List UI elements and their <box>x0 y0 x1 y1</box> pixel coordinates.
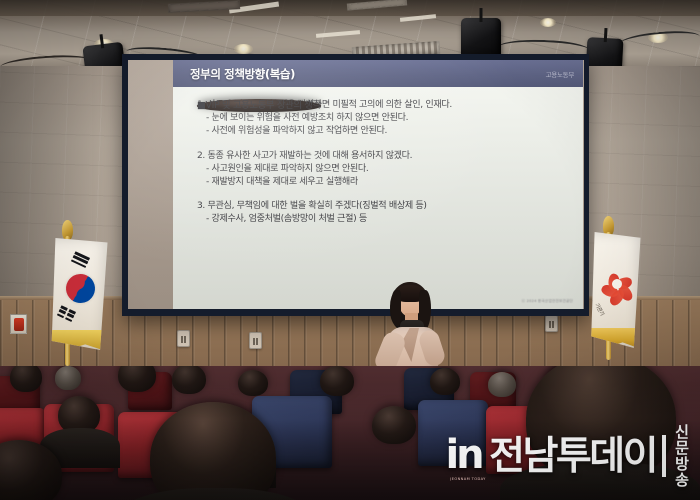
institution-flag-text: 기관기 <box>593 302 605 317</box>
projection-screen: 정부의 정책방향(복습) 고용노동부 ■VIP 및 고용노동부 장관의 생각 1… <box>122 54 589 316</box>
watermark-subtitle-line-1: 신문 <box>675 424 696 456</box>
slide-header: 정부의 정책방향(복습) 고용노동부 <box>173 60 583 87</box>
slide-group-3: 3. 무관심, 무책임에 대한 벌을 확실히 주겠다(징벌적 배상제 등) - … <box>197 200 567 226</box>
audience-head <box>372 406 416 444</box>
projected-slide: 정부의 정책방향(복습) 고용노동부 ■VIP 및 고용노동부 장관의 생각 1… <box>173 60 583 309</box>
recessed-light <box>540 18 556 27</box>
audience-head <box>320 366 354 396</box>
watermark-logo-icon: in JEONNAM TODAY <box>444 432 483 480</box>
slide-sub-bullet: - 강제수사, 엄중처벌(솜방망이 처벌 근절) 등 <box>197 213 567 226</box>
fire-equipment-sign <box>10 314 27 334</box>
slide-title: 정부의 정책방향(복습) <box>190 66 295 82</box>
trigram-geon <box>70 251 90 270</box>
slide-heading: ■VIP 및 고용노동부 장관의 생각 <box>197 99 321 112</box>
watermark-subtitle-line-2: 방송 <box>675 456 696 488</box>
watermark-brand: 전남투데이 <box>489 437 656 476</box>
slide-point-number: 3. 무관심, 무책임에 대한 벌을 확실히 주겠다(징벌적 배상제 등) <box>197 200 567 213</box>
audience-head <box>118 366 156 392</box>
slide-header-logo: 고용노동부 <box>546 69 574 79</box>
foreground-audience-shoulder <box>120 488 310 500</box>
audience-head <box>488 372 516 397</box>
audience-head <box>430 368 460 395</box>
slide-sub-bullet: - 재발방지 대책을 제대로 세우고 실행해라 <box>197 176 567 189</box>
watermark-divider <box>662 435 666 477</box>
wall-outlet <box>249 332 262 349</box>
watermark-logo-tagline: JEONNAM TODAY <box>446 477 490 481</box>
wall-outlet <box>545 315 558 332</box>
presenter-hair-side <box>391 290 401 326</box>
audience-head <box>55 366 81 390</box>
korean-flag-icon <box>48 238 110 350</box>
watermark-subtitle: 신문 방송 <box>675 424 696 489</box>
screen-surface: 정부의 정책방향(복습) 고용노동부 ■VIP 및 고용노동부 장관의 생각 1… <box>128 60 584 309</box>
slide-sub-bullet: - 사전에 위험성을 파악하지 않고 작업하면 안된다. <box>197 125 567 138</box>
institution-emblem-icon <box>598 265 635 302</box>
wall-outlet <box>177 330 190 347</box>
auditorium-scene: 정부의 정책방향(복습) 고용노동부 ■VIP 및 고용노동부 장관의 생각 1… <box>0 0 700 500</box>
slide-point-number: 2. 동종 유사한 사고가 재발하는 것에 대해 용서하지 않겠다. <box>197 150 567 163</box>
audience-head <box>172 366 206 394</box>
slide-body: ■VIP 및 고용노동부 장관의 생각 1. 사고가 예견 가능한 것을 방치하… <box>173 87 583 309</box>
slide-footer-note: ⓒ 2024 한국산업안전보건공단 <box>522 299 574 304</box>
trigram-gon <box>56 305 76 324</box>
taeguk-symbol <box>61 269 100 308</box>
audience-head <box>238 370 268 396</box>
slide-group-2: 2. 동종 유사한 사고가 재발하는 것에 대해 용서하지 않겠다. - 사고원… <box>197 150 567 189</box>
slide-sub-bullet: - 사고원인을 제대로 파악하지 않으면 안된다. <box>197 163 567 176</box>
recessed-light <box>234 44 253 54</box>
audience-head <box>10 366 42 392</box>
slide-sub-bullet: - 눈에 보이는 위험을 사전 예방조치 하지 않으면 안된다. <box>197 112 567 125</box>
watermark: in JEONNAM TODAY 전남투데이 신문 방송 <box>444 425 696 487</box>
watermark-logo-glyph: in <box>444 432 483 480</box>
